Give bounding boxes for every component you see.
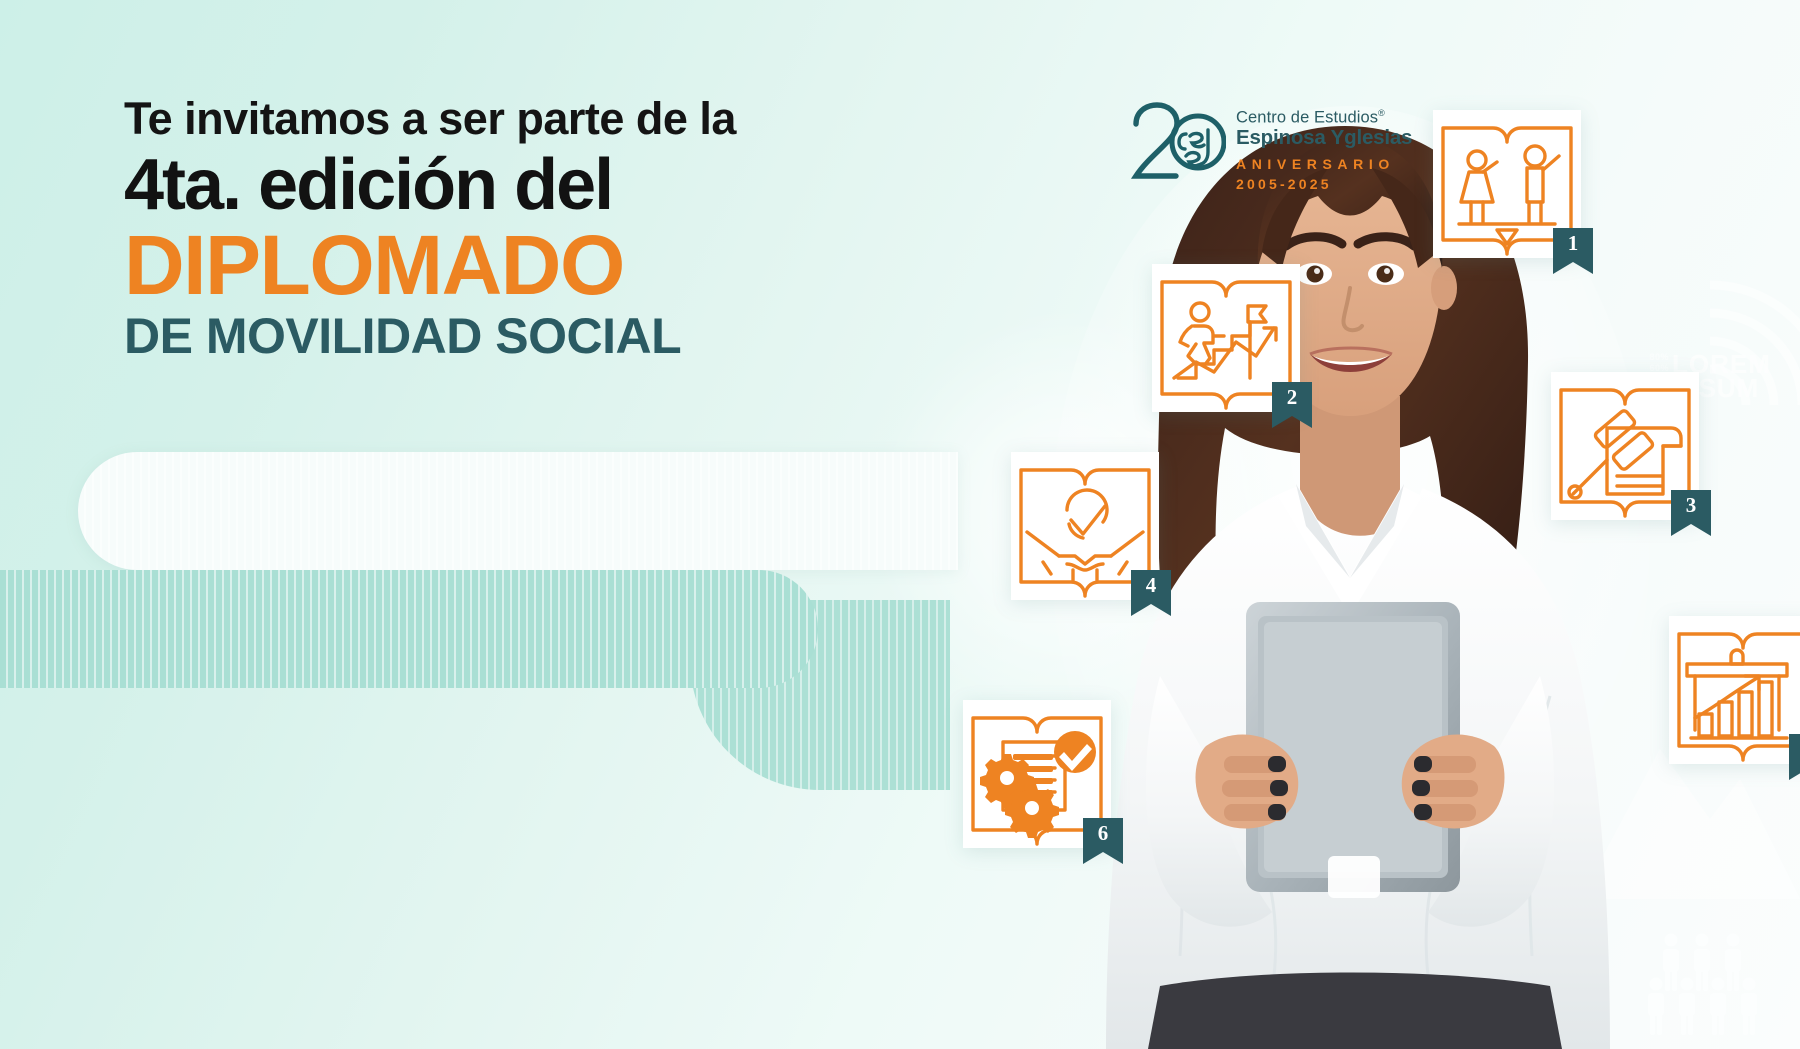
icon-card-3: 3: [1551, 372, 1699, 520]
icon-card-1: 1: [1433, 110, 1581, 258]
ceey-logo: Centro de Estudios® Espinosa Yglesias AN…: [1128, 100, 1412, 193]
icon-card-5: 5: [1669, 616, 1800, 764]
headline-edition: 4ta. edición del: [124, 149, 884, 221]
headline-subject: DE MOVILIDAD SOCIAL: [124, 311, 884, 361]
teal-pill-band: [0, 570, 818, 688]
logo-org-line2: Espinosa Yglesias: [1236, 127, 1412, 150]
white-pill-band: [78, 452, 958, 570]
logo-anniversary-label: ANIVERSARIO: [1236, 154, 1412, 175]
card-badge-5: 5: [1789, 734, 1800, 780]
promotional-banner: 80% 60% 40% 20% LOREM IPSUM Te invitamos…: [0, 0, 1800, 1049]
headline-intro: Te invitamos a ser parte de la: [124, 96, 884, 141]
presentation-bar-chart-icon: [1669, 616, 1800, 764]
icon-card-2: 2: [1152, 264, 1300, 412]
headline-diplomado: DIPLOMADO: [124, 223, 884, 309]
icon-card-4: 4: [1011, 452, 1159, 600]
headline-block: Te invitamos a ser parte de la 4ta. edic…: [124, 96, 884, 361]
logo-anniversary-years: 2005-2025: [1236, 175, 1412, 193]
logo-wordmark: Centro de Estudios® Espinosa Yglesias AN…: [1236, 100, 1412, 193]
ceey-anniversary-mark-icon: [1128, 100, 1226, 182]
logo-org-line1: Centro de Estudios®: [1236, 108, 1412, 127]
icon-card-6: 6: [963, 700, 1111, 848]
